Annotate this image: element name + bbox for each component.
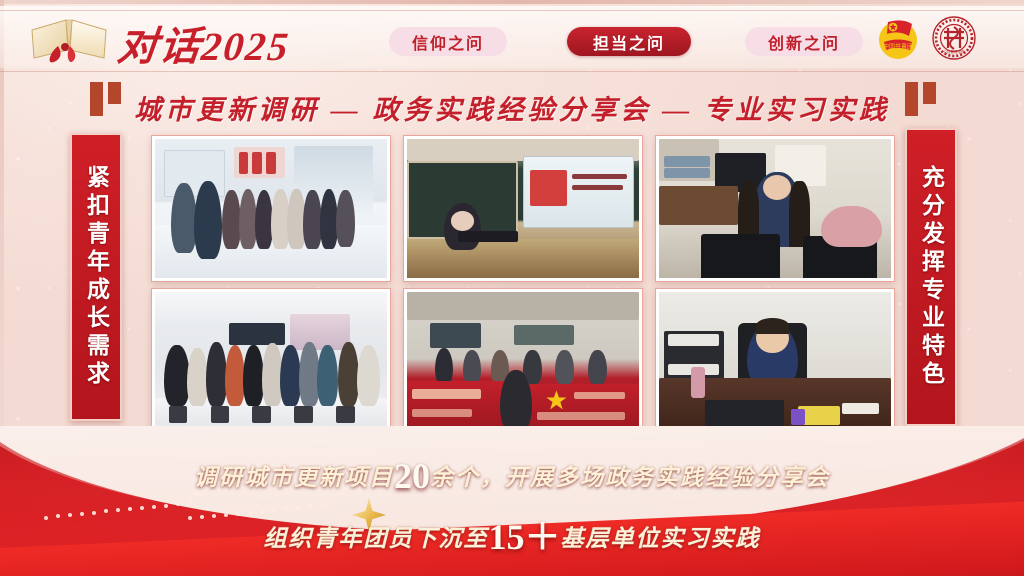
tab-belief-question[interactable]: 信仰之问 bbox=[389, 27, 507, 56]
photo-3-caption: 实习学生在办公室工位办公 bbox=[659, 268, 891, 278]
stat-1-suffix: 余个，开展多场政务实践经验分享会 bbox=[430, 465, 830, 490]
stat-2-suffix: 基层单位实习实践 bbox=[561, 526, 761, 551]
photo-grid: 讲解员为青年学生介绍城市更新展厅 政务实践经验分享会报告现场 bbox=[152, 136, 894, 436]
stat-2-prefix: 组织青年团员下沉至 bbox=[263, 526, 488, 551]
photo-1[interactable]: 讲解员为青年学生介绍城市更新展厅 bbox=[152, 136, 390, 281]
pill-label-2: 创新之问 bbox=[768, 30, 840, 54]
pill-label-0: 信仰之问 bbox=[412, 30, 484, 54]
star-icon bbox=[546, 389, 567, 411]
stat-line-1: 调研城市更新项目20余个，开展多场政务实践经验分享会 bbox=[0, 455, 1024, 497]
left-banner-text: 紧扣青年成长需求 bbox=[85, 165, 108, 389]
right-banner-text: 充分发挥专业特色 bbox=[920, 165, 943, 389]
main-title-row: 城市更新调研 — 政务实践经验分享会 — 专业实习实践 bbox=[0, 88, 1024, 128]
open-book-icon bbox=[28, 16, 110, 64]
communist-youth-league-emblem: 中国共青团 bbox=[874, 14, 922, 62]
photo-3[interactable]: 实习学生在办公室工位办公 bbox=[656, 136, 894, 281]
svg-text:中国共青团: 中国共青团 bbox=[883, 43, 913, 51]
tab-innovation-question[interactable]: 创新之问 bbox=[745, 27, 863, 56]
right-vertical-banner: 充分发挥专业特色 bbox=[905, 128, 957, 426]
left-vertical-banner: 紧扣青年成长需求 bbox=[70, 133, 122, 421]
photo-2-caption: 政务实践经验分享会报告现场 bbox=[407, 268, 639, 278]
photo-1-caption: 讲解员为青年学生介绍城市更新展厅 bbox=[155, 268, 387, 278]
svg-text:公共管理学院: 公共管理学院 bbox=[943, 49, 965, 54]
photo-4[interactable]: 青年团员参观产品展示厅 bbox=[152, 289, 390, 434]
stat-1-number: 20 bbox=[394, 456, 430, 496]
header-bar: 对话2025 信仰之问 担当之问 创新之问 中国共青团 bbox=[0, 0, 1024, 78]
photo-6[interactable]: 实习学生在基层单位伏案工作 bbox=[656, 289, 894, 434]
photo-5[interactable]: 公共管理学院实践分享会合影 bbox=[404, 289, 642, 434]
header-rule-top bbox=[0, 10, 1024, 11]
photo-2[interactable]: 政务实践经验分享会报告现场 bbox=[404, 136, 642, 281]
stat-line-2: 组织青年团员下沉至15＋基层单位实习实践 bbox=[0, 508, 1024, 560]
tab-responsibility-question[interactable]: 担当之问 bbox=[567, 27, 691, 56]
stat-2-number: 15＋ bbox=[488, 517, 560, 557]
brand-title: 对话2025 bbox=[115, 14, 293, 72]
page-title: 城市更新调研 — 政务实践经验分享会 — 专业实习实践 bbox=[0, 88, 1024, 127]
stat-1-prefix: 调研城市更新项目 bbox=[194, 465, 394, 490]
logo-group: 中国共青团 公共管理学院 bbox=[874, 14, 978, 62]
quote-mark-right-icon bbox=[905, 82, 936, 116]
university-seal: 公共管理学院 bbox=[930, 14, 978, 62]
poster-canvas: 对话2025 信仰之问 担当之问 创新之问 中国共青团 bbox=[0, 0, 1024, 576]
pill-label-1: 担当之问 bbox=[593, 30, 665, 54]
